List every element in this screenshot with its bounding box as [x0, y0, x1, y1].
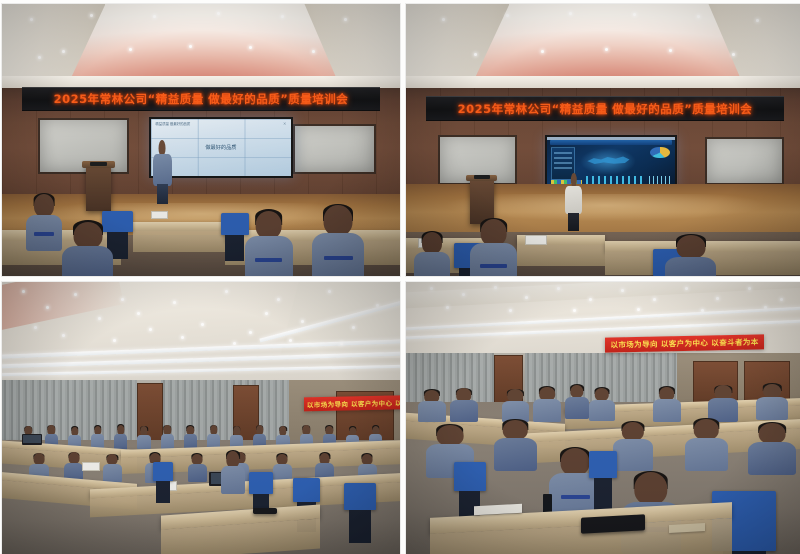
- attendee-head: [73, 222, 102, 249]
- chair: [344, 483, 376, 510]
- attendee-head: [324, 205, 353, 235]
- attendee: [245, 211, 293, 276]
- ceiling-downlight: [62, 50, 65, 53]
- uniform-logo: [480, 264, 507, 268]
- ceiling-downlight: [30, 18, 33, 21]
- presenter-torso: [153, 154, 171, 185]
- presenter-legs: [568, 213, 579, 231]
- attendee: [414, 232, 450, 276]
- slide-center-text: 做最好的品质: [151, 144, 290, 151]
- attendee-uniform: [62, 246, 114, 276]
- chair: [589, 451, 617, 478]
- dashboard-pie-chart: [650, 147, 669, 158]
- ceiling-downlight: [442, 18, 445, 21]
- led-banner: 2025年常林公司“精益质量 做最好的品质”质量培训会: [22, 87, 380, 111]
- attendee-uniform: [26, 215, 62, 252]
- desk-row: [133, 222, 229, 232]
- photo-top-right[interactable]: 2025年常林公司“精益质量 做最好的品质”质量培训会: [406, 4, 800, 276]
- ceiling-downlight: [189, 45, 192, 48]
- notebook: [253, 508, 277, 515]
- led-banner: 2025年常林公司“精益质量 做最好的品质”质量培训会: [426, 96, 784, 120]
- attendee: [470, 219, 518, 276]
- red-banner-text: 以市场为导向 以客户为中心 以奋斗者为本: [610, 337, 758, 351]
- attendee-head: [676, 235, 705, 259]
- attendee: [26, 194, 62, 251]
- chair: [153, 462, 173, 481]
- name-card: [151, 211, 167, 220]
- podium: [86, 164, 112, 210]
- photo-bottom-right[interactable]: 以市场为导向 以客户为中心 以奋斗者为本: [406, 282, 800, 554]
- photo-collage: 2025年常林公司“精益质量 做最好的品质”质量培训会 精益质量 做最好的品质 …: [0, 0, 800, 554]
- name-card: [525, 235, 547, 245]
- attendee: [62, 222, 114, 276]
- ceiling-downlight: [474, 53, 477, 56]
- attendee: [665, 235, 717, 276]
- attendee-uniform: [414, 252, 450, 276]
- chair: [454, 462, 486, 492]
- uniform-logo: [34, 232, 54, 235]
- attendee-uniform: [665, 257, 717, 276]
- presenter: [565, 173, 582, 230]
- attendee-head: [480, 219, 507, 246]
- slide-header-text: 精益质量 做最好的品质: [155, 121, 190, 126]
- ceiling-downlight: [38, 56, 41, 59]
- attendee-head: [422, 232, 442, 254]
- ceiling-downlight: [281, 15, 284, 18]
- chair: [249, 472, 273, 494]
- podium-microphone: [90, 162, 107, 166]
- ceiling-downlight: [344, 18, 347, 21]
- ceiling-downlight: [633, 13, 636, 16]
- presenter: [153, 140, 171, 203]
- photo-top-left[interactable]: 2025年常林公司“精益质量 做最好的品质”质量培训会 精益质量 做最好的品质 …: [2, 4, 400, 276]
- attendee-head: [255, 211, 282, 239]
- projection-screen-right: [293, 124, 377, 174]
- ceiling-downlight: [249, 46, 252, 49]
- chair: [293, 478, 321, 502]
- laptop: [22, 434, 42, 445]
- attendee-uniform: [245, 236, 293, 276]
- presenter-legs: [157, 184, 169, 204]
- presenter-torso: [565, 186, 582, 215]
- led-banner-text: 2025年常林公司“精益质量 做最好的品质”质量培训会: [54, 91, 349, 107]
- uniform-logo: [561, 495, 590, 499]
- attendee-uniform: [221, 466, 245, 494]
- ceiling-downlight: [697, 15, 700, 18]
- projection-screen-right: [705, 137, 785, 185]
- red-slogan-banner: 以市场为导向 以客户为中心 以奋斗者为本: [304, 395, 400, 411]
- attendee-head: [34, 194, 54, 217]
- ceiling-downlight: [669, 49, 672, 52]
- ceiling-downlight: [506, 14, 509, 17]
- attendee: [312, 205, 364, 276]
- dashboard-toolbar: [550, 140, 672, 145]
- close-icon: ✕: [283, 121, 286, 126]
- attendee-head: [561, 448, 590, 476]
- attendee-head: [634, 472, 667, 505]
- attendee-uniform: [470, 243, 518, 276]
- red-banner-text: 以市场为导向 以客户为中心 以奋斗者为本: [307, 397, 400, 410]
- podium-microphone: [474, 175, 490, 179]
- name-card: [82, 462, 100, 471]
- ceiling-cove-light: [406, 76, 800, 88]
- uniform-logo: [255, 258, 282, 262]
- uniform-logo: [324, 256, 353, 260]
- ceiling-downlight: [90, 14, 93, 17]
- photo-bottom-left[interactable]: 以市场为导向 以客户为中心 以奋斗者为本: [2, 282, 400, 554]
- attendee-foreground: [221, 451, 245, 495]
- led-banner-text: 2025年常林公司“精益质量 做最好的品质”质量培训会: [458, 101, 753, 117]
- attendee-uniform: [312, 233, 364, 276]
- ceiling-downlight: [605, 48, 608, 51]
